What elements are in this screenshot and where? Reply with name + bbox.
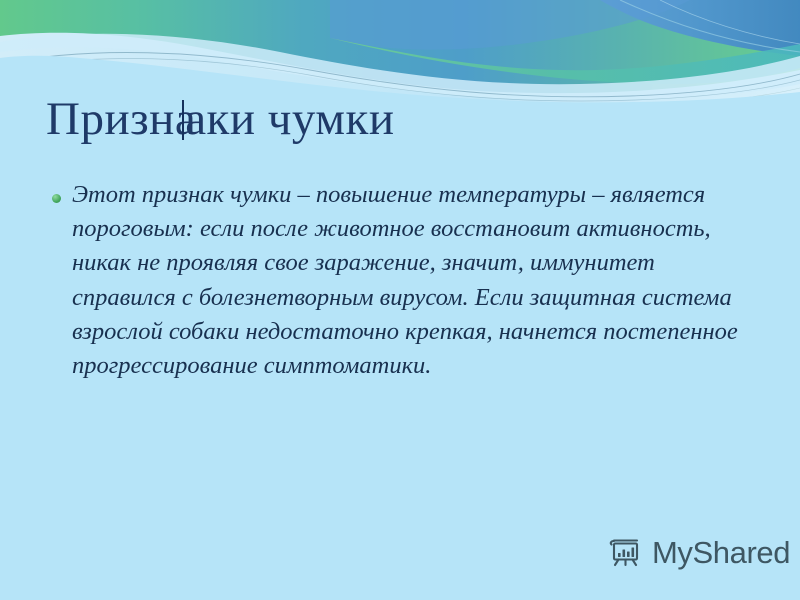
myshared-watermark: MyShared — [606, 532, 790, 572]
text-caret — [182, 100, 184, 140]
slide-title-prefix: Призна — [46, 93, 196, 145]
wave-decoration-icon — [0, 0, 800, 108]
slide-title-suffix: аки чумки — [185, 93, 394, 145]
flipchart-bar-chart-icon — [606, 532, 646, 572]
slide-body: Этот признак чумки – повышение температу… — [52, 178, 752, 383]
slide-title: Признааки чумки — [46, 96, 395, 143]
myshared-label: MyShared — [652, 537, 790, 568]
wave-decoration — [0, 0, 800, 108]
bullet-point-icon — [52, 194, 61, 203]
bullet-item-text: Этот признак чумки – повышение температу… — [72, 178, 752, 383]
presentation-slide: Признааки чумки Этот признак чумки – пов… — [0, 0, 800, 600]
bullet-list-item: Этот признак чумки – повышение температу… — [52, 178, 752, 383]
